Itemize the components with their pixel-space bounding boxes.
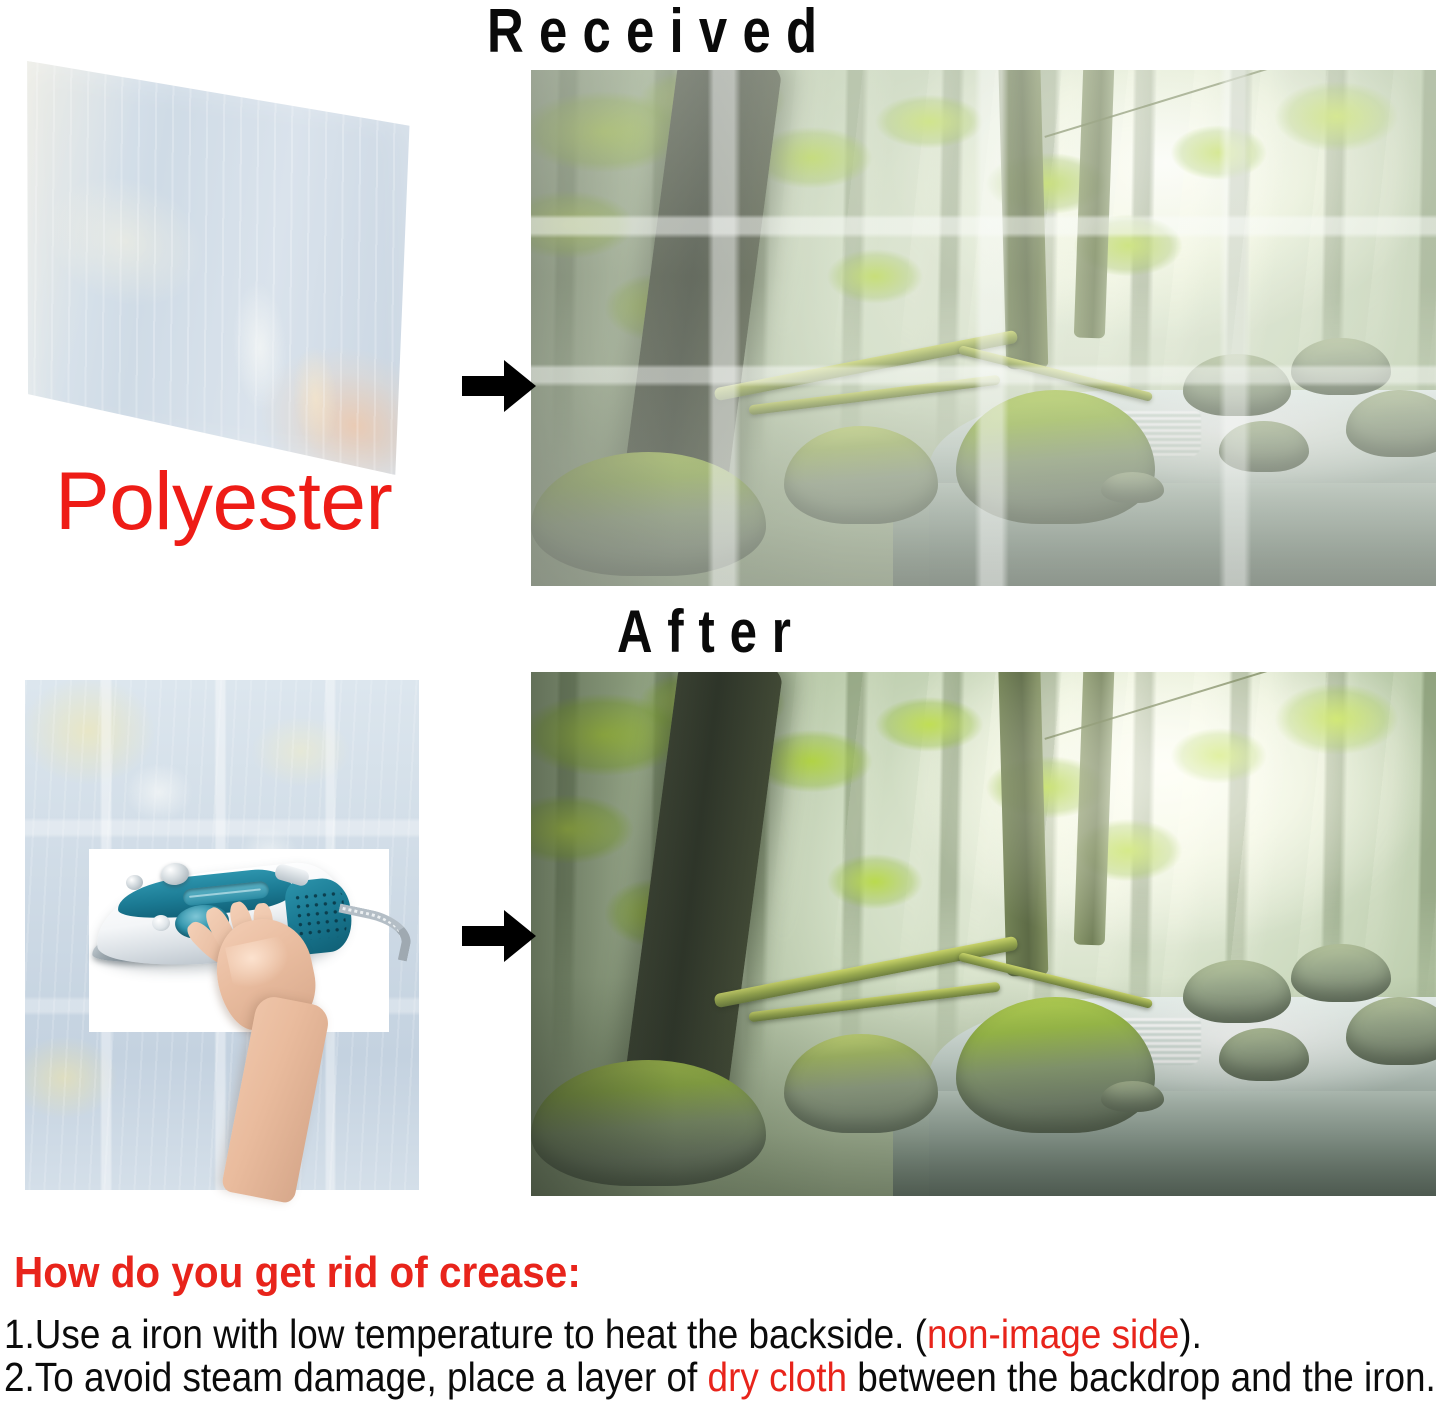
right-arrow-icon: [462, 360, 536, 412]
care-instructions-heading: How do you get rid of crease:: [14, 1248, 581, 1298]
care-line-1-post: ).: [1179, 1311, 1202, 1357]
mossy-boulder: [1219, 1028, 1310, 1080]
material-label: Polyester: [55, 455, 392, 549]
right-arrow-icon: [462, 910, 536, 962]
care-line-1-pre: 1.Use a iron with low temperature to hea…: [4, 1311, 927, 1357]
mossy-boulder: [1291, 944, 1391, 1002]
forest-image-smooth: [531, 672, 1436, 1196]
mossy-boulder: [1291, 338, 1391, 395]
mossy-boulder: [1101, 472, 1164, 503]
iron-photo: [89, 849, 399, 1194]
forest-scene: [531, 70, 1436, 586]
section-title-after: After: [617, 597, 806, 666]
folded-fabric-image: [19, 60, 418, 478]
tree-trunk-mid: [997, 70, 1047, 370]
forest-image-creased: [531, 70, 1436, 586]
care-line-2-pre: 2.To avoid steam damage, place a layer o…: [4, 1354, 708, 1400]
section-title-received: Received: [487, 0, 832, 67]
forest-scene: [531, 672, 1436, 1196]
care-line-2-post: between the backdrop and the iron.: [847, 1354, 1436, 1400]
fabric-texture: [19, 60, 418, 478]
tree-trunk-mid: [997, 672, 1047, 976]
care-line-2-highlight: dry cloth: [708, 1354, 847, 1400]
iron-indicator-light: [152, 915, 170, 931]
care-instruction-line-2: 2.To avoid steam damage, place a layer o…: [4, 1354, 1436, 1401]
care-instruction-line-1: 1.Use a iron with low temperature to hea…: [4, 1311, 1202, 1358]
care-line-1-highlight: non-image side: [927, 1311, 1179, 1357]
forearm: [221, 994, 332, 1204]
